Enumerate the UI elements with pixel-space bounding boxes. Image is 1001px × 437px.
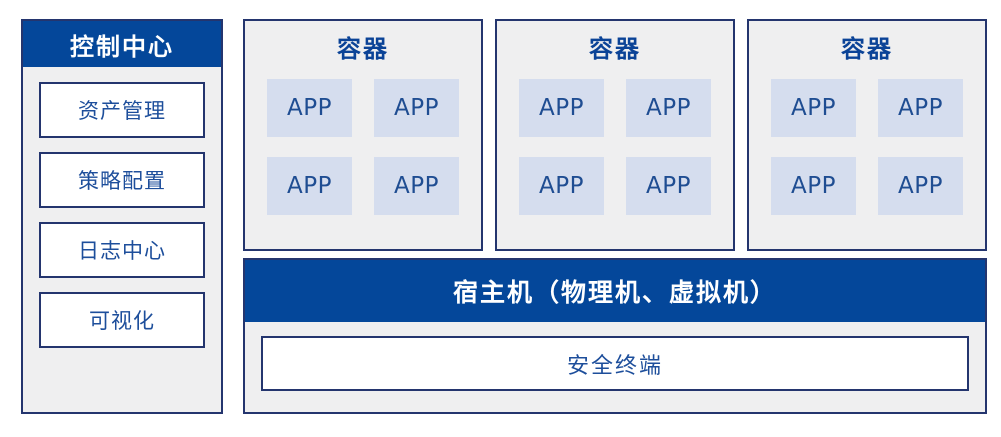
app-box[interactable]: APP (771, 157, 856, 215)
sidebar-item-label: 策略配置 (78, 165, 166, 195)
app-box[interactable]: APP (626, 79, 711, 137)
app-box[interactable]: APP (519, 157, 604, 215)
app-label: APP (791, 95, 836, 121)
sidebar-item-asset-management[interactable]: 资产管理 (39, 82, 205, 138)
app-label: APP (287, 95, 332, 121)
app-box[interactable]: APP (374, 79, 459, 137)
sidebar-item-log-center[interactable]: 日志中心 (39, 222, 205, 278)
container-title: 容器 (749, 21, 985, 61)
host-machine-body: 安全终端 (245, 322, 985, 406)
app-label: APP (394, 95, 439, 121)
app-box[interactable]: APP (771, 79, 856, 137)
app-box[interactable]: APP (374, 157, 459, 215)
control-center-panel: 控制中心 资产管理 策略配置 日志中心 可视化 (21, 19, 223, 414)
secure-terminal-label: 安全终端 (567, 348, 663, 380)
app-label: APP (646, 95, 691, 121)
host-machine-panel: 宿主机（物理机、虚拟机） 安全终端 (243, 258, 987, 414)
app-grid: APP APP APP APP (749, 61, 985, 215)
app-grid: APP APP APP APP (245, 61, 481, 215)
app-box[interactable]: APP (267, 79, 352, 137)
container-panel-1: 容器 APP APP APP APP (243, 19, 483, 251)
container-panel-3: 容器 APP APP APP APP (747, 19, 987, 251)
app-label: APP (539, 95, 584, 121)
app-label: APP (791, 173, 836, 199)
host-machine-title: 宿主机（物理机、虚拟机） (245, 260, 985, 322)
sidebar-item-label: 日志中心 (78, 235, 166, 265)
app-label: APP (539, 173, 584, 199)
app-box[interactable]: APP (519, 79, 604, 137)
container-title: 容器 (497, 21, 733, 61)
app-label: APP (646, 173, 691, 199)
app-label: APP (394, 173, 439, 199)
control-center-title: 控制中心 (23, 21, 221, 67)
app-label: APP (898, 95, 943, 121)
app-grid: APP APP APP APP (497, 61, 733, 215)
sidebar-item-label: 可视化 (89, 305, 155, 335)
app-box[interactable]: APP (878, 79, 963, 137)
app-box[interactable]: APP (267, 157, 352, 215)
secure-terminal-box[interactable]: 安全终端 (261, 336, 969, 391)
app-label: APP (898, 173, 943, 199)
container-title: 容器 (245, 21, 481, 61)
sidebar-item-label: 资产管理 (78, 95, 166, 125)
control-center-item-list: 资产管理 策略配置 日志中心 可视化 (23, 67, 221, 362)
architecture-diagram: 控制中心 资产管理 策略配置 日志中心 可视化 容器 APP APP (0, 0, 1001, 437)
container-panel-2: 容器 APP APP APP APP (495, 19, 735, 251)
app-label: APP (287, 173, 332, 199)
app-box[interactable]: APP (626, 157, 711, 215)
app-box[interactable]: APP (878, 157, 963, 215)
sidebar-item-visualization[interactable]: 可视化 (39, 292, 205, 348)
sidebar-item-policy-configuration[interactable]: 策略配置 (39, 152, 205, 208)
